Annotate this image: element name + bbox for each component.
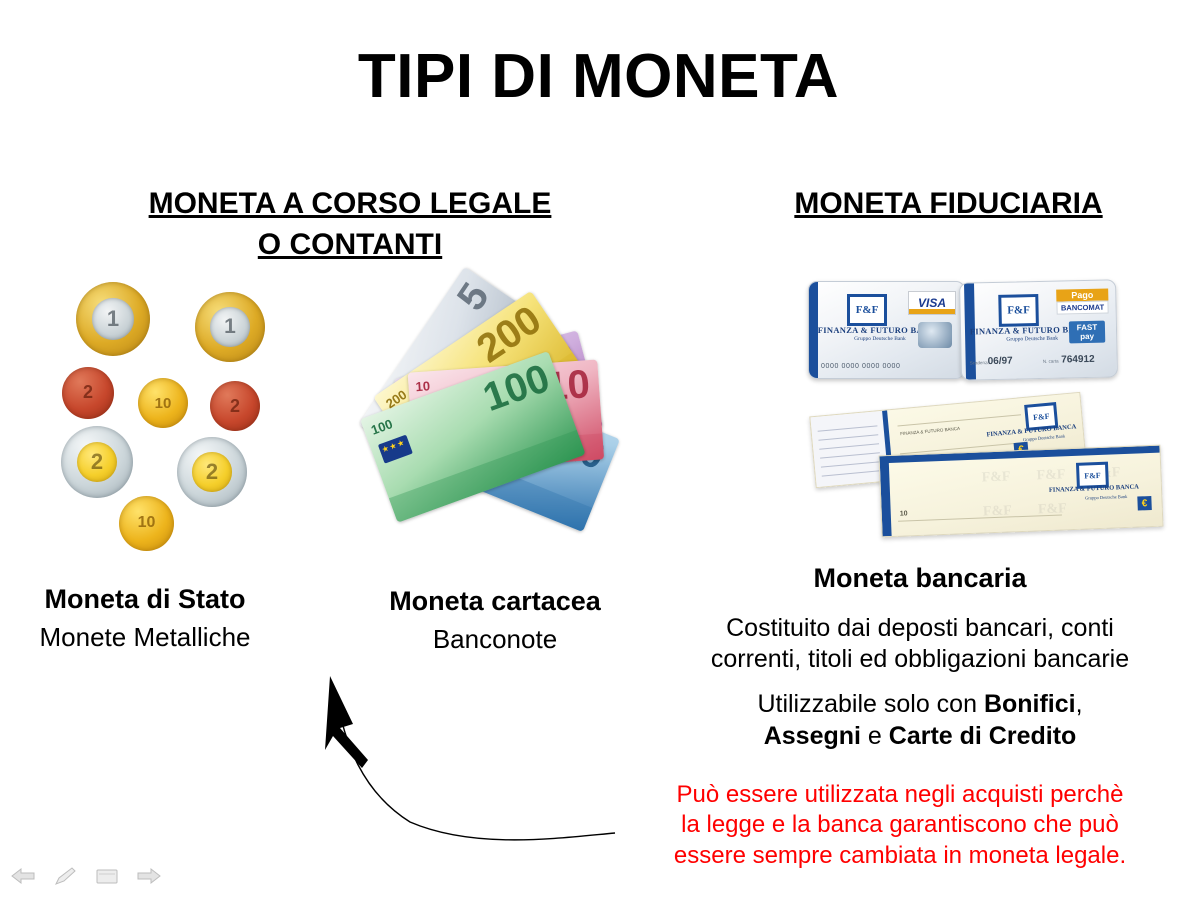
card-valid-value: 06/97 [988, 356, 1013, 368]
pago-label: Pago [1056, 289, 1108, 302]
fastpay-line2: pay [1069, 332, 1105, 342]
caption-banconote: Banconote [310, 624, 680, 655]
cheque-amount-line: 10 [900, 510, 908, 517]
right-heading-text: MONETA FIDUCIARIA [794, 187, 1102, 220]
cheque-bank-name: FINANZA & FUTURO BANCA [1049, 483, 1139, 493]
slide-menu-icon[interactable] [94, 865, 120, 887]
caption-moneta-cartacea: Moneta cartacea [310, 586, 680, 617]
euro-symbol-icon: € [1137, 496, 1152, 511]
cheque-bank-group: Gruppo Deutsche Bank [1023, 433, 1066, 442]
usage-prefix: Utilizzabile solo con [757, 690, 984, 718]
caption-moneta-bancaria: Moneta bancaria [650, 563, 1190, 594]
hologram-icon [918, 322, 952, 348]
euro-coins-photo: 1 1 2 10 2 2 2 10 [58, 278, 280, 560]
note-corner-value: 100 [369, 416, 395, 438]
previous-slide-arrow-icon[interactable] [10, 865, 36, 887]
cheque-left-band [880, 456, 892, 536]
red-note-line-1: Può essere utilizzata negli acquisti per… [610, 780, 1190, 810]
left-heading-line1: MONETA A CORSO LEGALE [149, 187, 552, 220]
usage-carte-di-credito: Carte di Credito [889, 722, 1077, 750]
next-slide-arrow-icon[interactable] [136, 865, 162, 887]
red-note-line-3: essere sempre cambiata in moneta legale. [610, 841, 1190, 871]
2-cent-coin: 2 [210, 381, 260, 431]
visa-logo-icon: VISA [908, 291, 956, 315]
moneta-bancaria-usage: Utilizzabile solo con Bonifici, Assegni … [650, 688, 1190, 752]
usage-middle: e [861, 722, 889, 750]
note-value: 5 [450, 276, 496, 317]
card-id-value: 764912 [1061, 354, 1095, 366]
right-column-heading: MONETA FIDUCIARIA [700, 183, 1197, 224]
ff-logo-icon: F&F [998, 294, 1039, 327]
note-corner-value: 10 [415, 378, 430, 394]
euro-banknotes-photo: 5 ★★★ 5 500 ★★★ 500 20 ★★★ 20 200 ★★★ 20… [343, 266, 643, 571]
1-euro-coin: 1 [76, 282, 150, 356]
left-column-heading: MONETA A CORSO LEGALE O CONTANTI [30, 183, 670, 266]
red-note-line-2: la legge e la banca garantiscono che può [610, 810, 1190, 840]
card-id-label: N. carta [1043, 359, 1059, 364]
10-cent-coin: 10 [138, 378, 188, 428]
usage-assegni: Assegni [764, 722, 861, 750]
visa-credit-card: F&F FINANZA & FUTURO BANCA Gruppo Deutsc… [808, 281, 965, 379]
pago-bancomat-logo-icon: Pago BANCOMAT [1056, 289, 1109, 315]
ff-logo-icon: F&F [847, 294, 887, 326]
cheque-bank-line: FINANZA & FUTURO BANCA [900, 426, 960, 436]
bancomat-debit-card: F&F FINANZA & FUTURO BANCA Gruppo Deutsc… [959, 279, 1118, 380]
bank-cheque-front: F&F F&F F&F F&F F&F F&F FINANZA & FUTURO… [879, 445, 1164, 538]
usage-bonifici: Bonifici [984, 690, 1076, 718]
slide-navigation-bar[interactable] [10, 865, 162, 887]
description-line-1: Costituito dai deposti bancari, conti [650, 613, 1190, 644]
pen-tool-icon[interactable] [52, 865, 78, 887]
moneta-bancaria-description: Costituito dai deposti bancari, conti co… [650, 613, 1190, 675]
1-euro-coin: 1 [195, 292, 265, 362]
left-heading-line2: O CONTANTI [258, 228, 442, 261]
description-line-2: correnti, titoli ed obbligazioni bancari… [650, 644, 1190, 675]
red-explanatory-note: Può essere utilizzata negli acquisti per… [610, 780, 1190, 871]
usage-comma: , [1076, 690, 1083, 718]
2-cent-coin: 2 [62, 367, 114, 419]
curved-arrow-to-banconote [300, 672, 640, 862]
caption-moneta-di-stato: Moneta di Stato [0, 584, 290, 615]
2-euro-coin: 2 [177, 437, 247, 507]
10-cent-coin: 10 [119, 496, 174, 551]
presentation-slide: TIPI DI MONETA MONETA A CORSO LEGALE O C… [0, 0, 1197, 897]
card-number: 0000 0000 0000 0000 [821, 363, 901, 370]
fastpay-logo-icon: FAST pay [1069, 321, 1105, 344]
cheque-bank-group: Gruppo Deutsche Bank [1085, 494, 1127, 501]
bancomat-label: BANCOMAT [1056, 301, 1108, 315]
2-euro-coin: 2 [61, 426, 133, 498]
caption-monete-metalliche: Monete Metalliche [0, 622, 290, 653]
page-title: TIPI DI MONETA [0, 44, 1197, 109]
